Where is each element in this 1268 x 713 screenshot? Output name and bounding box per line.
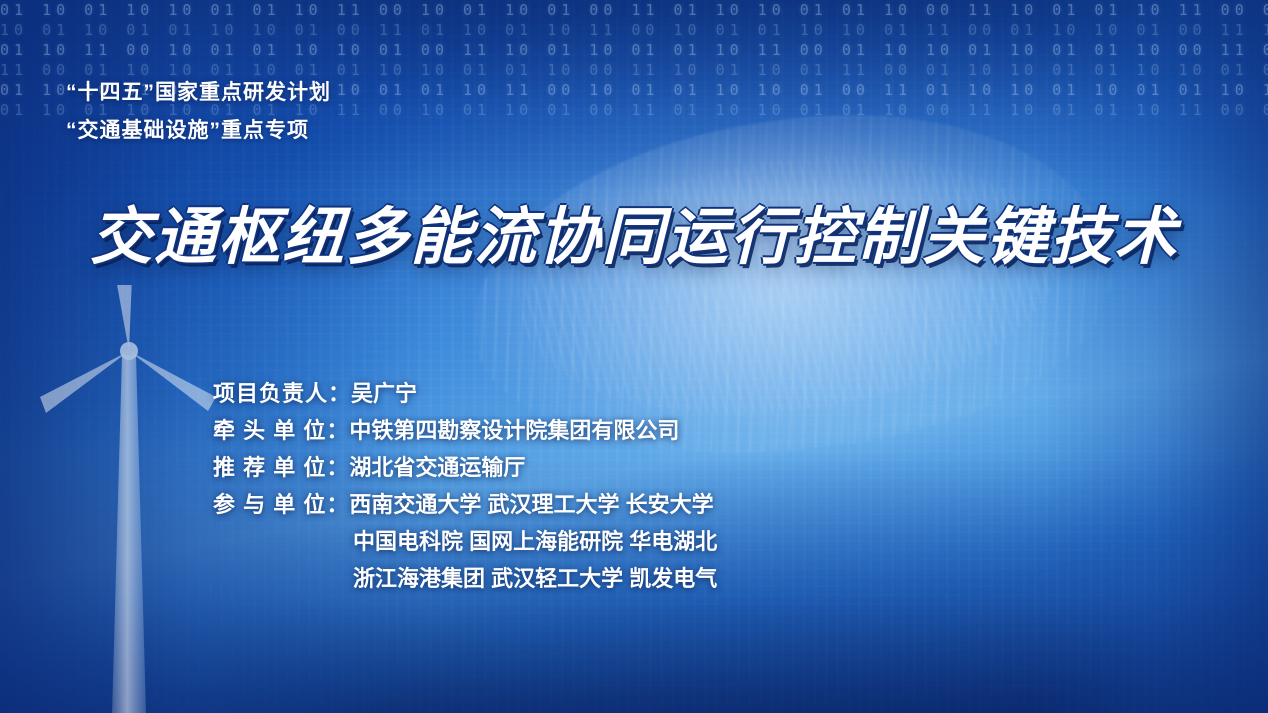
page-title: 交通枢纽多能流协同运行控制关键技术 (90, 186, 1178, 276)
program-kicker: “十四五”国家重点研发计划 “交通基础设施”重点专项 (66, 74, 331, 150)
info-row-recommend-unit: 推 荐 单 位：湖北省交通运输厅 (213, 449, 717, 486)
leader-value: 吴广宁 (351, 381, 417, 406)
recommend-label: 推 荐 单 位： (213, 455, 349, 480)
participants-line-1: 西南交通大学 武汉理工大学 长安大学 (349, 492, 713, 517)
project-info: 项目负责人：吴广宁 牵 头 单 位：中铁第四勘察设计院集团有限公司 推 荐 单 … (213, 375, 717, 597)
kicker-line-2: “交通基础设施”重点专项 (66, 112, 331, 150)
participants-line-3: 浙江海港集团 武汉轻工大学 凯发电气 (213, 560, 717, 597)
leader-label: 项目负责人： (213, 381, 351, 406)
participants-label: 参 与 单 位： (213, 492, 349, 517)
kicker-line-1: “十四五”国家重点研发计划 (66, 74, 331, 112)
info-row-lead-unit: 牵 头 单 位：中铁第四勘察设计院集团有限公司 (213, 412, 717, 449)
presentation-slide: 01 10 01 10 10 01 01 10 11 00 10 01 10 0… (0, 0, 1268, 713)
lead-unit-value: 中铁第四勘察设计院集团有限公司 (349, 418, 679, 443)
lead-unit-label: 牵 头 单 位： (213, 418, 349, 443)
participants-line-2: 中国电科院 国网上海能研院 华电湖北 (213, 523, 717, 560)
right-haze (1038, 0, 1268, 713)
info-row-participants: 参 与 单 位：西南交通大学 武汉理工大学 长安大学 (213, 486, 717, 523)
recommend-value: 湖北省交通运输厅 (349, 455, 525, 480)
info-row-leader: 项目负责人：吴广宁 (213, 375, 717, 412)
